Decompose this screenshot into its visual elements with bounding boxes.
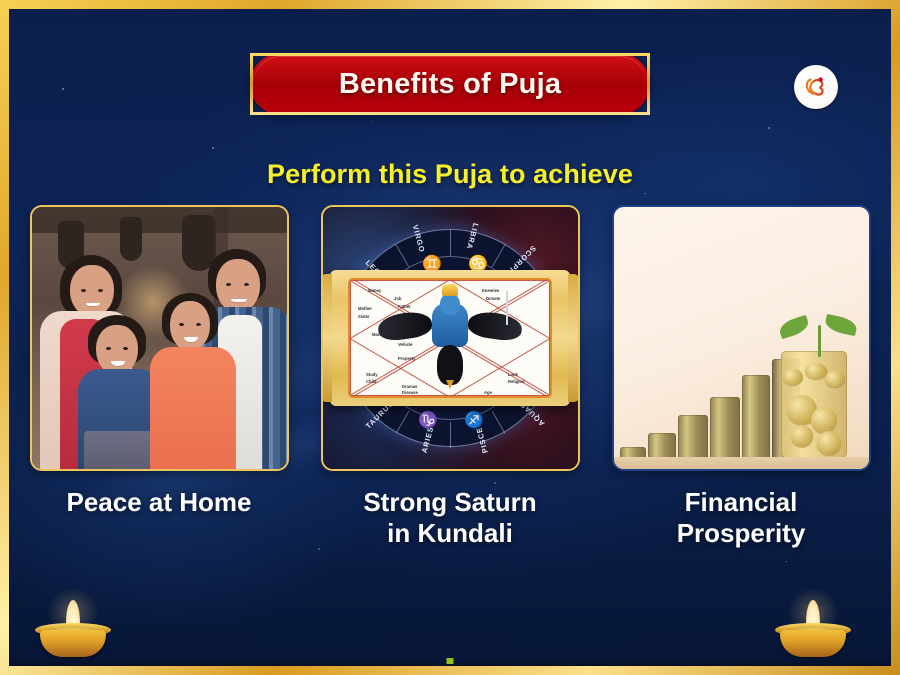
benefit-image-kundali: GEMINI CANCER LEO VIRGO LIBRA SCORPIO SA… <box>321 205 580 471</box>
ganesha-om-logo-icon[interactable] <box>794 65 838 109</box>
kundali-house-label: Child <box>366 379 376 384</box>
bottom-center-artifact <box>447 658 454 664</box>
benefit-caption: Financial Prosperity <box>612 487 871 548</box>
benefit-caption: Strong Saturn in Kundali <box>321 487 580 548</box>
caption-line-1: Peace at Home <box>30 487 289 518</box>
poster-background: Benefits of Puja Perform this Puja to ac… <box>9 9 891 666</box>
page-title: Benefits of Puja <box>339 68 561 101</box>
kundali-house-label: Dramas <box>402 384 417 389</box>
kundali-house-label: Mother <box>358 306 372 311</box>
kundali-house-label: Study <box>366 372 378 377</box>
kundali-house-label: Disease <box>402 390 418 395</box>
caption-line-1: Strong Saturn <box>321 487 580 518</box>
benefit-card-financial-prosperity[interactable]: Financial Prosperity <box>612 205 871 548</box>
benefit-card-peace-at-home[interactable]: Peace at Home <box>30 205 289 548</box>
page-subtitle: Perform this Puja to achieve <box>9 159 891 190</box>
puja-benefits-poster: Benefits of Puja Perform this Puja to ac… <box>0 0 900 675</box>
diya-lamp-left-icon <box>31 601 115 657</box>
kundali-house-label: Age <box>484 390 492 395</box>
kundali-chart: Money Job Father Enemies Donate Mother S… <box>348 278 552 398</box>
benefit-card-strong-saturn[interactable]: GEMINI CANCER LEO VIRGO LIBRA SCORPIO SA… <box>321 205 580 548</box>
shani-dev-figure <box>390 285 510 381</box>
caption-line-1: Financial <box>612 487 871 518</box>
benefits-card-row: Peace at Home <box>9 205 891 548</box>
benefit-image-coins <box>612 205 871 471</box>
kundali-house-label: Religion <box>508 379 525 384</box>
kundali-scroll: Money Job Father Enemies Donate Mother S… <box>330 270 570 406</box>
benefit-caption: Peace at Home <box>30 487 289 518</box>
kundali-house-label: Money <box>368 288 381 293</box>
diya-lamp-right-icon <box>771 601 855 657</box>
kundali-house-label: Sister <box>358 314 370 319</box>
benefit-image-family <box>30 205 289 471</box>
caption-line-2: in Kundali <box>321 518 580 549</box>
caption-line-2: Prosperity <box>612 518 871 549</box>
plant-leaf-right <box>823 314 858 336</box>
title-banner: Benefits of Puja <box>250 53 650 115</box>
coin-jar <box>781 351 847 459</box>
plant-leaf-left <box>777 315 810 339</box>
